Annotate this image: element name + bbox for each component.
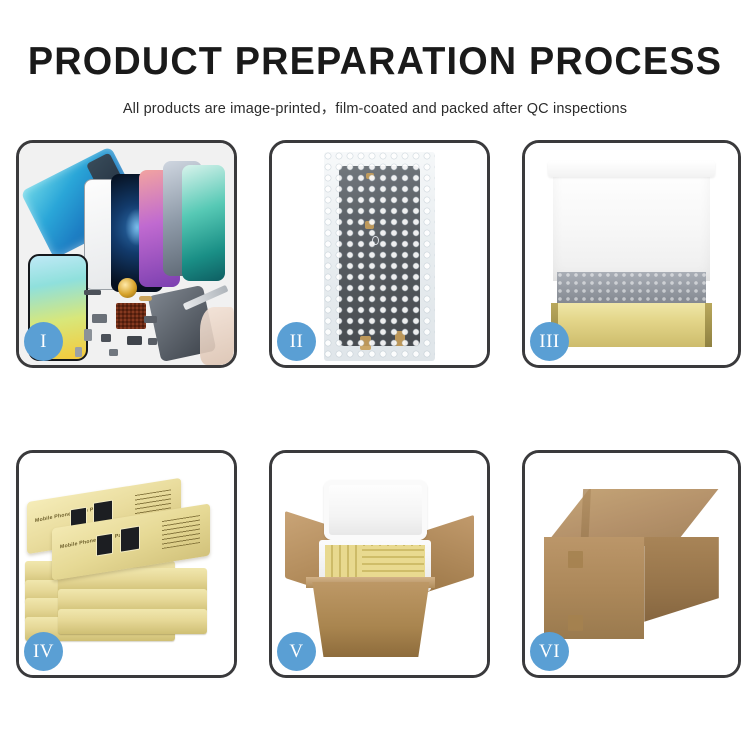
carton-body-icon [309, 582, 434, 657]
step-badge-4: IV [24, 632, 63, 671]
small-part-icon [101, 334, 112, 342]
bubble-texture-overlay [324, 152, 436, 361]
carton-tape-icon [568, 551, 583, 569]
step-badge-6: VI [530, 632, 569, 671]
page-subtitle: All products are image-printed，film-coat… [0, 97, 750, 118]
step-card-2: II [269, 140, 490, 368]
step-card-5: V [269, 450, 490, 678]
grey-bubble-filler-icon [557, 272, 706, 308]
kraft-box-base-icon [551, 303, 713, 347]
step-badge-5: V [277, 632, 316, 671]
foam-lid-icon [324, 480, 427, 540]
box-art-screen-icon [96, 533, 113, 558]
carton-tape-icon [568, 615, 583, 631]
small-part-icon [84, 290, 101, 296]
small-part-icon [139, 296, 152, 301]
small-part-icon [92, 314, 107, 323]
step-card-4: Mobile Phone Spare Parts Mobile Phone Sp… [16, 450, 237, 678]
carton-side-face-icon [644, 537, 719, 621]
page-title: PRODUCT PREPARATION PROCESS [11, 42, 739, 81]
box-spec-lines [162, 516, 200, 549]
small-part-icon [127, 336, 142, 345]
step-badge-3: III [530, 322, 569, 361]
white-foam-lid-icon [553, 165, 711, 280]
phone-teal-icon [182, 165, 225, 280]
small-part-icon [148, 338, 157, 345]
bubble-wrap-bag-icon [324, 152, 436, 361]
box-art-screen-icon [119, 526, 139, 553]
header: PRODUCT PREPARATION PROCESS All products… [0, 0, 750, 118]
box-stack-icon: Mobile Phone Spare Parts Mobile Phone Sp… [25, 475, 227, 661]
step-badge-1: I [24, 322, 63, 361]
step-card-3: III [522, 140, 741, 368]
small-part-icon [84, 329, 93, 340]
box-label-text: Mobile Phone Spare Parts [59, 531, 128, 550]
small-part-icon [75, 347, 83, 357]
hand-icon [200, 307, 234, 365]
small-part-icon [144, 316, 157, 323]
chip-board-icon [116, 303, 146, 330]
step-card-6: VI [522, 450, 741, 678]
gold-coil-part-icon [118, 278, 137, 298]
process-steps-grid: I II [16, 140, 737, 678]
product-preparation-infographic: PRODUCT PREPARATION PROCESS All products… [0, 0, 750, 750]
carton-front-face-icon [544, 537, 644, 639]
step-badge-2: II [277, 322, 316, 361]
step-card-1: I [16, 140, 237, 368]
small-part-icon [109, 349, 118, 356]
stacked-box-layer [58, 609, 208, 633]
